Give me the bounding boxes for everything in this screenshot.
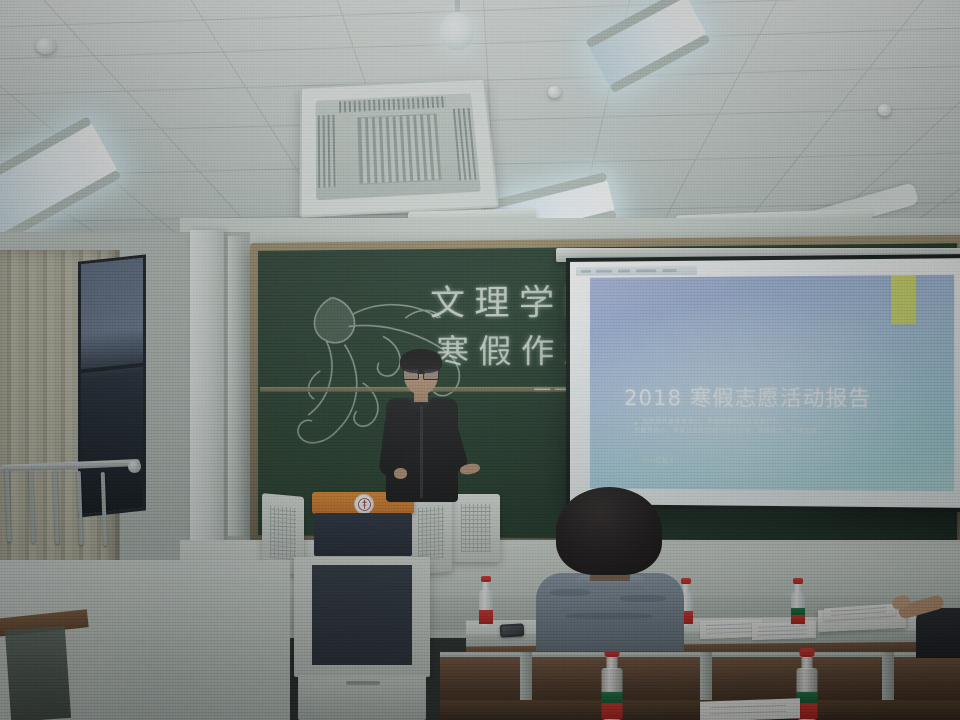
slide-subtitle: 志愿服务是奉献爱心、不求回报的社会公益行为， 在服务他人、奉献社会的过程中提升自… bbox=[634, 418, 933, 437]
ac-vent-left bbox=[318, 115, 337, 188]
handout-paper-3 bbox=[700, 698, 800, 720]
classroom-photo: 文理学院 寒假作业讠 ——2018 2018 寒假志愿活动报告 志愿服务是奉献爱… bbox=[0, 0, 960, 720]
slide-subtitle-line-1: 志愿服务是奉献爱心、不求回报的社会公益行为， bbox=[634, 418, 933, 428]
structural-pillar bbox=[190, 230, 224, 560]
handout-paper-2 bbox=[752, 621, 816, 640]
podium-body bbox=[294, 557, 430, 677]
bench-leg-3 bbox=[882, 652, 894, 704]
bench-leg-1 bbox=[520, 652, 532, 704]
podium-base bbox=[298, 675, 426, 720]
smoke-detector-center bbox=[548, 86, 561, 98]
slide-canvas: 2018 寒假志愿活动报告 志愿服务是奉献爱心、不求回报的社会公益行为， 在服务… bbox=[590, 275, 954, 491]
smoke-detector-left bbox=[36, 38, 56, 54]
podium-equipment-panel[interactable] bbox=[312, 565, 412, 665]
screen-surface: 2018 寒假志愿活动报告 志愿服务是奉献爱心、不求回报的社会公益行为， 在服务… bbox=[570, 258, 960, 508]
pillar-edge bbox=[228, 236, 244, 536]
glasses-icon bbox=[403, 369, 439, 378]
water-bottle-3[interactable] bbox=[790, 578, 806, 626]
bench-leg-2 bbox=[700, 652, 712, 704]
podium-drawer-handle[interactable] bbox=[346, 681, 380, 685]
seated-student bbox=[536, 487, 684, 647]
student-hair bbox=[556, 487, 662, 575]
presenter bbox=[368, 352, 508, 502]
powerpoint-menubar bbox=[576, 266, 697, 276]
slide-subtitle-line-2: 在服务他人、奉献社会的过程中提升自我、锻炼能力、传递温暖。 bbox=[634, 427, 933, 437]
smartphone[interactable] bbox=[500, 623, 525, 637]
wall-speaker bbox=[452, 494, 500, 562]
presenter-hand-left bbox=[394, 468, 407, 479]
safety-railing bbox=[0, 462, 140, 548]
right-attendee bbox=[898, 582, 960, 652]
presenter-jacket-placket bbox=[420, 406, 423, 498]
pendant-bulb bbox=[440, 12, 474, 50]
teaching-podium bbox=[262, 487, 452, 720]
water-bottle-4[interactable] bbox=[600, 648, 624, 720]
railing-knob bbox=[128, 460, 141, 473]
left-desk-shadow bbox=[5, 626, 71, 720]
attendee-torso bbox=[916, 608, 960, 658]
slide-accent-block bbox=[891, 275, 916, 325]
ceiling-ac-cassette bbox=[300, 78, 499, 218]
smoke-detector-right bbox=[878, 104, 891, 116]
projection-screen: 2018 寒假志愿活动报告 志愿服务是奉献爱心、不求回报的社会公益行为， 在服务… bbox=[566, 254, 960, 512]
slide-attribution: ——汇报人 bbox=[642, 454, 675, 464]
ac-grille bbox=[357, 113, 442, 185]
slide-title: 2018 寒假志愿活动报告 bbox=[624, 382, 871, 413]
window-mullion bbox=[81, 363, 143, 374]
podium-monitor[interactable] bbox=[314, 513, 412, 556]
water-bottle-1[interactable] bbox=[478, 576, 494, 626]
